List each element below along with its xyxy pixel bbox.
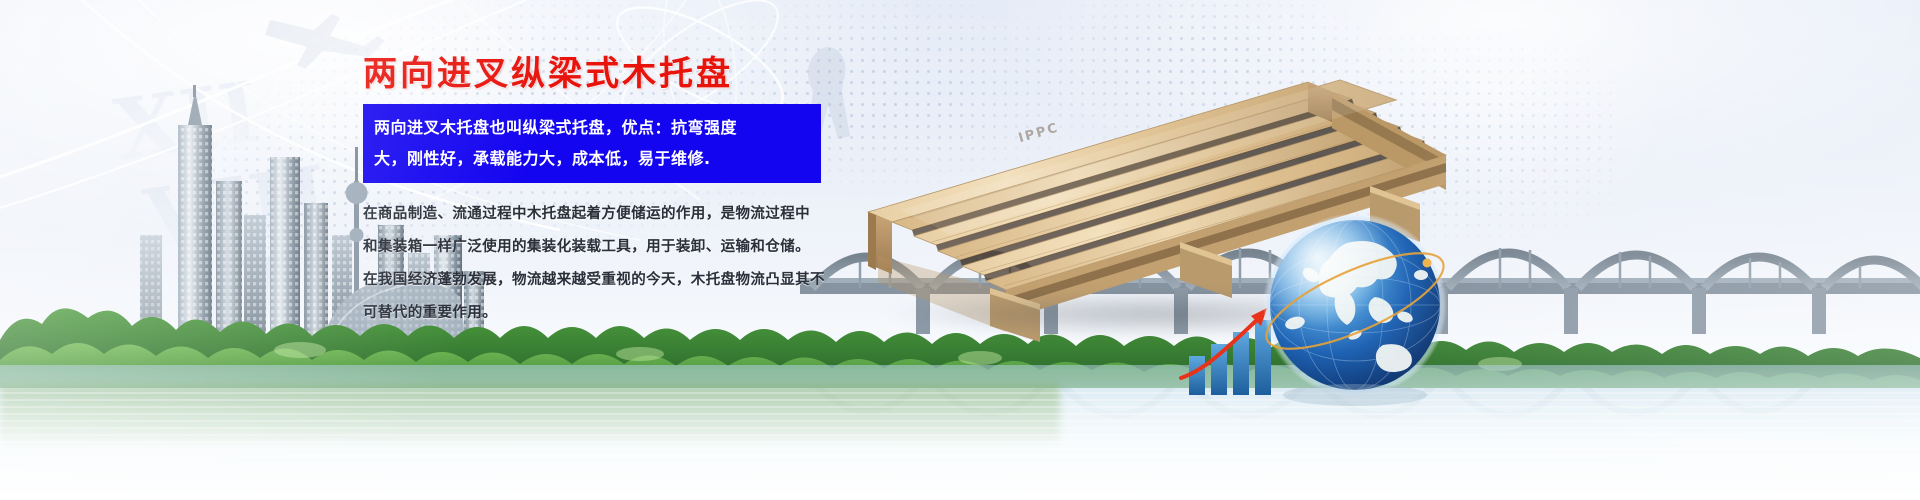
page-title: 两向进叉纵梁式木托盘 — [363, 52, 843, 96]
description-line-4: 可替代的重要作用。 — [363, 298, 837, 329]
promotional-banner: XII VIII VI — [0, 0, 1920, 500]
highlight-line-1: 两向进叉木托盘也叫纵梁式托盘，优点：抗弯强度 — [374, 112, 810, 143]
description-line-2: 和集装箱一样广泛使用的集装化装载工具，用于装卸、运输和仓储。 — [363, 232, 837, 263]
orbit-satellite-dot — [1423, 259, 1432, 268]
svg-text:IPPC: IPPC — [1017, 120, 1061, 146]
description-paragraph: 在商品制造、流通过程中木托盘起着方便储运的作用，是物流过程中 和集装箱一样广泛使… — [363, 199, 837, 329]
highlight-line-2: 大，刚性好，承载能力大，成本低，易于维修. — [374, 143, 810, 174]
earth-globe-graphic — [1255, 205, 1455, 415]
pallet-stamp: IPPC — [1017, 120, 1061, 146]
description-line-1: 在商品制造、流通过程中木托盘起着方便储运的作用，是物流过程中 — [363, 199, 837, 230]
description-line-3: 在我国经济蓬勃发展，物流越来越受重视的今天，木托盘物流凸显其不 — [363, 265, 837, 296]
text-content-column: 两向进叉纵梁式木托盘 两向进叉木托盘也叫纵梁式托盘，优点：抗弯强度 大，刚性好，… — [363, 52, 843, 329]
water-streaks — [0, 387, 1920, 482]
highlight-callout-box: 两向进叉木托盘也叫纵梁式托盘，优点：抗弯强度 大，刚性好，承载能力大，成本低，易… — [363, 104, 821, 183]
